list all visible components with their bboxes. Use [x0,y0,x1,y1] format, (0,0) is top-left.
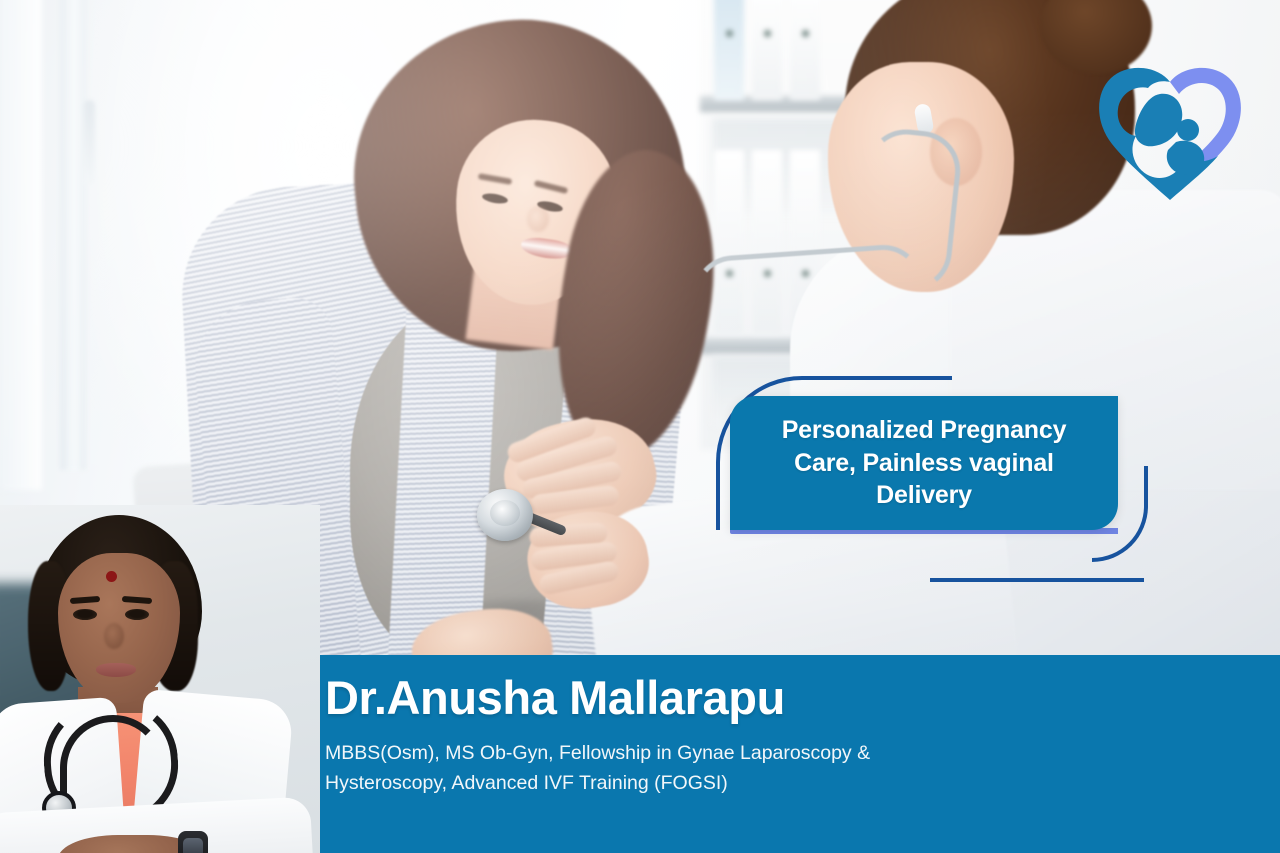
binder [790,0,820,100]
portrait-wristwatch [178,831,208,853]
portrait-eye [125,609,149,620]
doctor-credentials: MBBS(Osm), MS Ob-Gyn, Fellowship in Gyna… [325,738,925,798]
callout-box: Personalized Pregnancy Care, Painless va… [730,396,1118,530]
portrait-bindi [106,571,117,582]
portrait-lips [96,663,136,677]
callout-line-2: Care, Painless vaginal [794,449,1054,477]
portrait-eye [73,609,97,620]
doctor-info-text: Dr.Anusha Mallarapu MBBS(Osm), MS Ob-Gyn… [325,673,1205,798]
window-frame-outer [0,0,42,490]
headline-callout: Personalized Pregnancy Care, Painless va… [700,368,1160,568]
stethoscope-chestpiece [477,489,533,541]
portrait-nose [104,623,124,649]
window-handle [84,100,95,186]
callout-line-3: Delivery [876,481,972,509]
binder [752,0,782,100]
promotional-banner: Personalized Pregnancy Care, Painless va… [0,0,1280,853]
credentials-line-2: Hysteroscopy, Advanced IVF Training (FOG… [325,772,728,794]
callout-headline: Personalized Pregnancy Care, Painless va… [768,414,1081,512]
credentials-line-1: MBBS(Osm), MS Ob-Gyn, Fellowship in Gyna… [325,742,870,764]
patient-nose [527,206,549,232]
binder [714,0,744,100]
mother-and-child-heart-logo [1090,58,1250,218]
doctor-name: Dr.Anusha Mallarapu [325,673,1205,724]
doctor-portrait-cutout [0,505,320,853]
callout-line-1: Personalized Pregnancy [782,416,1067,444]
window-frame-inner [60,0,86,470]
